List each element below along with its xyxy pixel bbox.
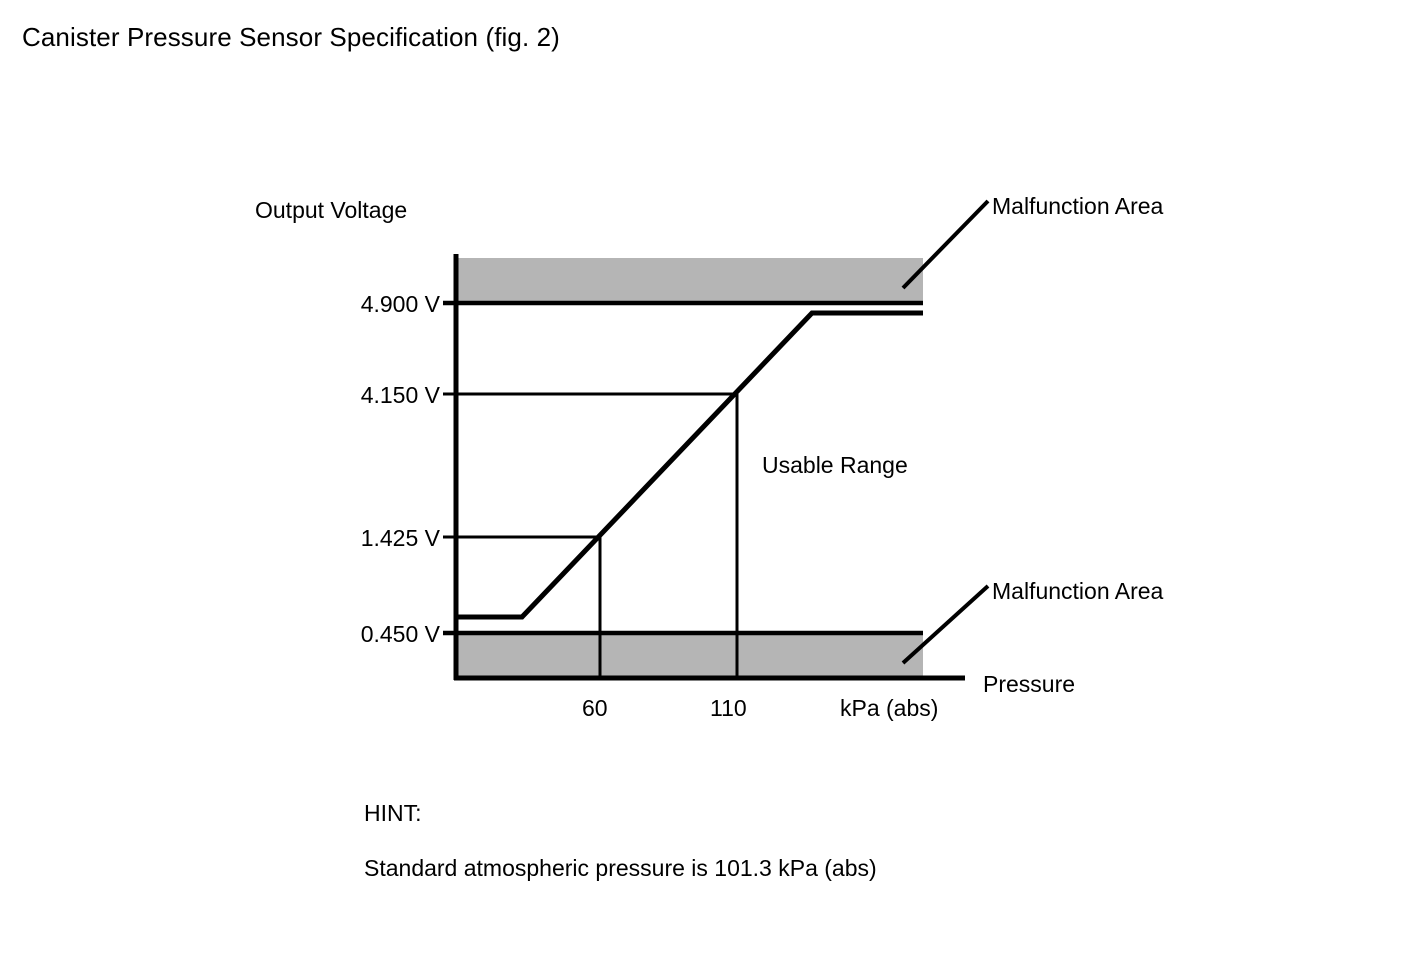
malfunction-band-lower [456, 634, 923, 678]
x-axis-units-label: kPa (abs) [840, 695, 938, 722]
y-tick-label-4150: 4.150 V [330, 382, 440, 409]
y-tick-label-1425: 1.425 V [330, 525, 440, 552]
x-axis-label: Pressure [983, 671, 1075, 698]
leader-line-malfunction-top [903, 201, 988, 288]
annotation-usable-range: Usable Range [762, 452, 908, 479]
y-tick-label-0450: 0.450 V [330, 621, 440, 648]
hint-block: HINT: Standard atmospheric pressure is 1… [364, 800, 877, 882]
annotation-malfunction-area-top: Malfunction Area [992, 193, 1163, 220]
leader-line-malfunction-bottom [903, 586, 988, 663]
x-tick-label-110: 110 [710, 695, 747, 722]
malfunction-band-upper [456, 258, 923, 303]
hint-text: Standard atmospheric pressure is 101.3 k… [364, 855, 877, 882]
y-axis-label: Output Voltage [255, 197, 407, 224]
annotation-malfunction-area-bottom: Malfunction Area [992, 578, 1163, 605]
x-tick-label-60: 60 [582, 695, 608, 722]
y-tick-label-4900: 4.900 V [330, 291, 440, 318]
hint-heading: HINT: [364, 800, 877, 827]
sensor-specification-figure: Output Voltage Pressure kPa (abs) 60 110… [0, 0, 1424, 959]
